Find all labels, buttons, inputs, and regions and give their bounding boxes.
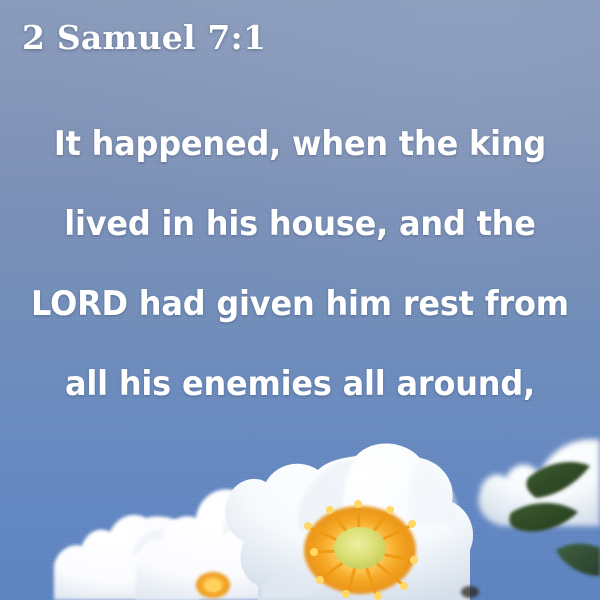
verse-line: lived in his house, and the: [18, 184, 582, 264]
verse-line: all his enemies all around,: [18, 344, 582, 424]
verse-image: 2 Samuel 7:1 It happened, when the king …: [0, 0, 600, 600]
verse-reference: 2 Samuel 7:1: [22, 18, 266, 57]
verse-line: It happened, when the king: [18, 104, 582, 184]
verse-text: It happened, when the king lived in his …: [0, 104, 600, 424]
verse-line: LORD had given him rest from: [18, 264, 582, 344]
